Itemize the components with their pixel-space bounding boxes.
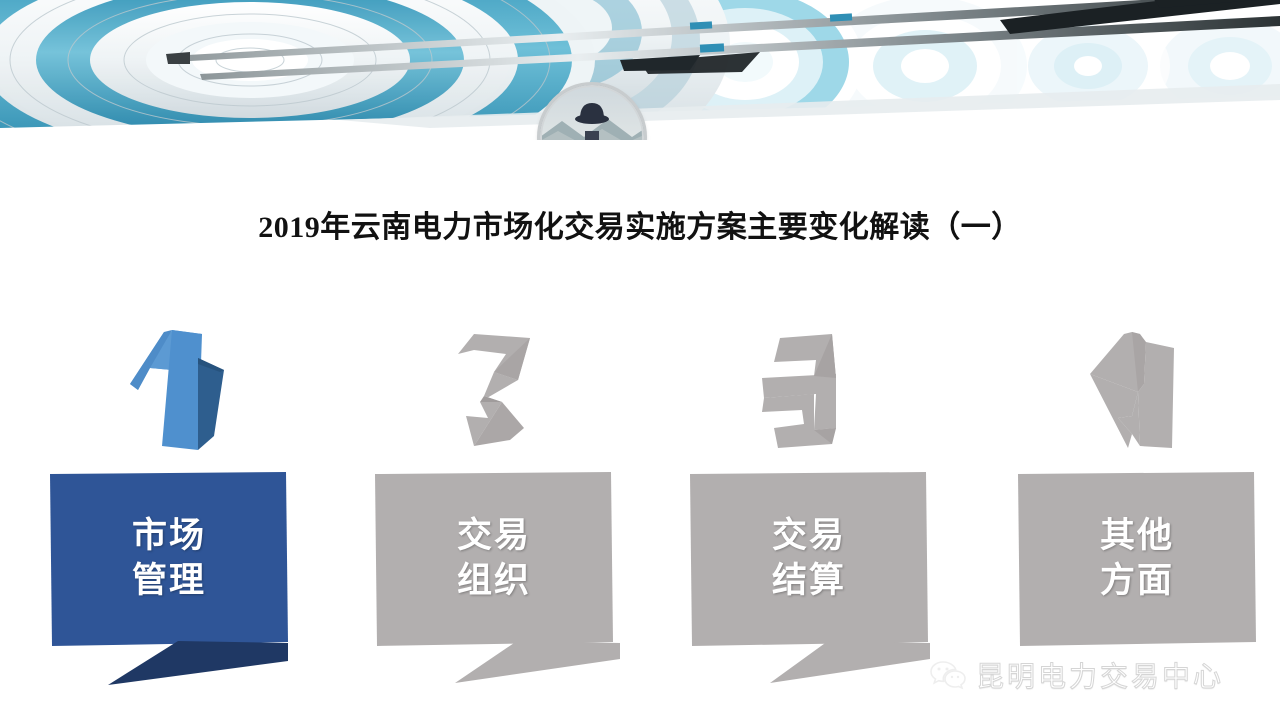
- watermark-text: 昆明电力交易中心: [976, 655, 1224, 695]
- bubble-tail-3: [770, 639, 930, 685]
- origami-numeral-3-icon: [756, 332, 842, 450]
- speech-bubble-3[interactable]: 交易 结算: [690, 472, 928, 646]
- speech-bubble-2[interactable]: 交易 组织: [375, 472, 613, 646]
- watermark: 昆明电力交易中心: [930, 655, 1224, 695]
- bubble-body-1: [50, 472, 288, 646]
- bubble-tail-1: [108, 639, 288, 687]
- origami-numeral-4-icon: [1088, 330, 1180, 452]
- origami-numeral-1-icon: [128, 328, 228, 452]
- bubble-body-4: [1018, 472, 1256, 646]
- wechat-icon: [930, 660, 966, 690]
- speech-bubble-1[interactable]: 市场 管理: [50, 472, 288, 646]
- bubble-body-2: [375, 472, 613, 646]
- bubble-body-3: [690, 472, 928, 646]
- speech-bubble-4[interactable]: 其他 方面: [1018, 472, 1256, 646]
- origami-numeral-2-icon: [444, 332, 538, 452]
- cards-row: 市场 管理 交易 组织: [0, 0, 1280, 720]
- bubble-tail-2: [455, 639, 620, 685]
